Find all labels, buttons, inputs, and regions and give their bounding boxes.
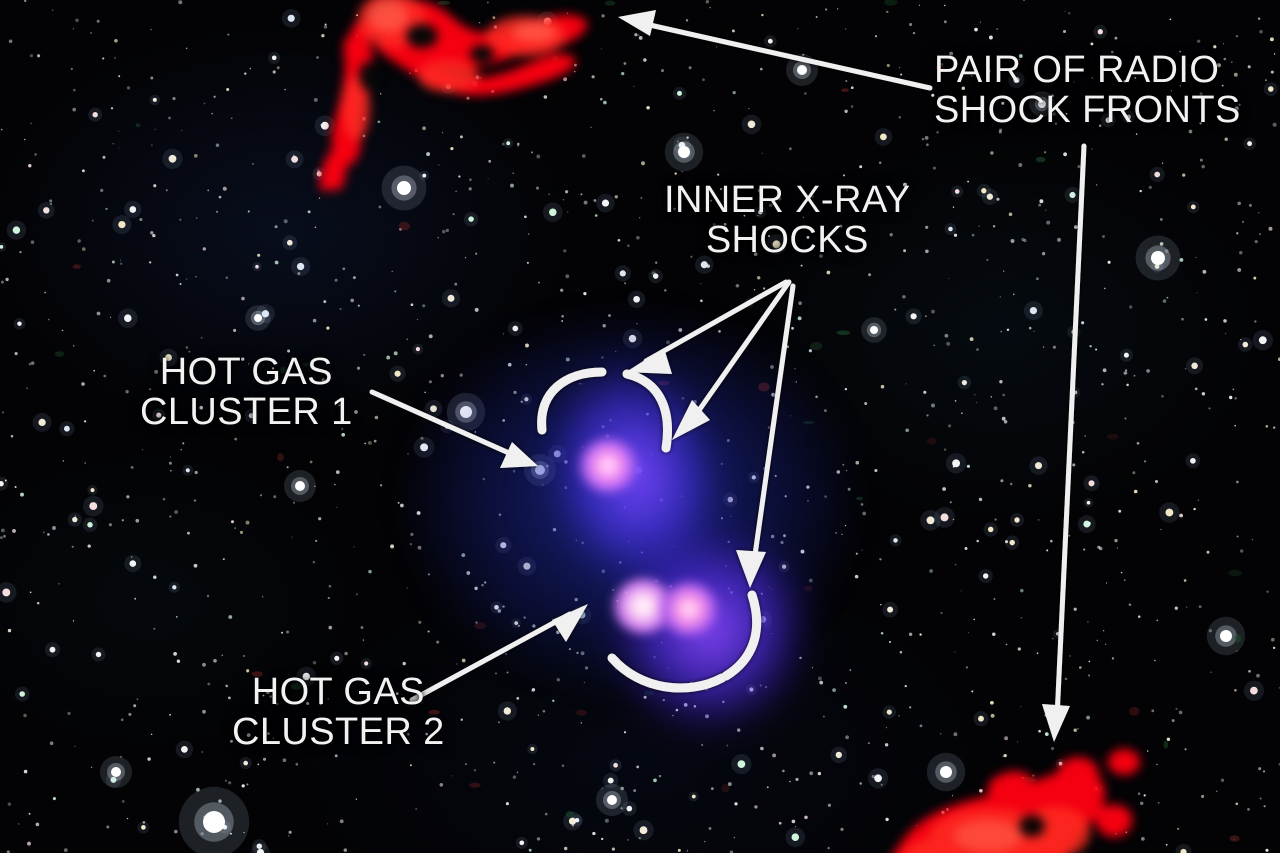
astronomy-annotated-image: PAIR OF RADIO SHOCK FRONTS INNER X-RAY S… [0, 0, 1280, 853]
label-hot-gas-cluster-1: HOT GAS CLUSTER 1 [140, 352, 353, 433]
label-pair-of-radio-shock-fronts: PAIR OF RADIO SHOCK FRONTS [934, 50, 1241, 131]
label-inner-x-ray-shocks: INNER X-RAY SHOCKS [664, 180, 911, 261]
label-hot-gas-cluster-2: HOT GAS CLUSTER 2 [232, 672, 445, 753]
